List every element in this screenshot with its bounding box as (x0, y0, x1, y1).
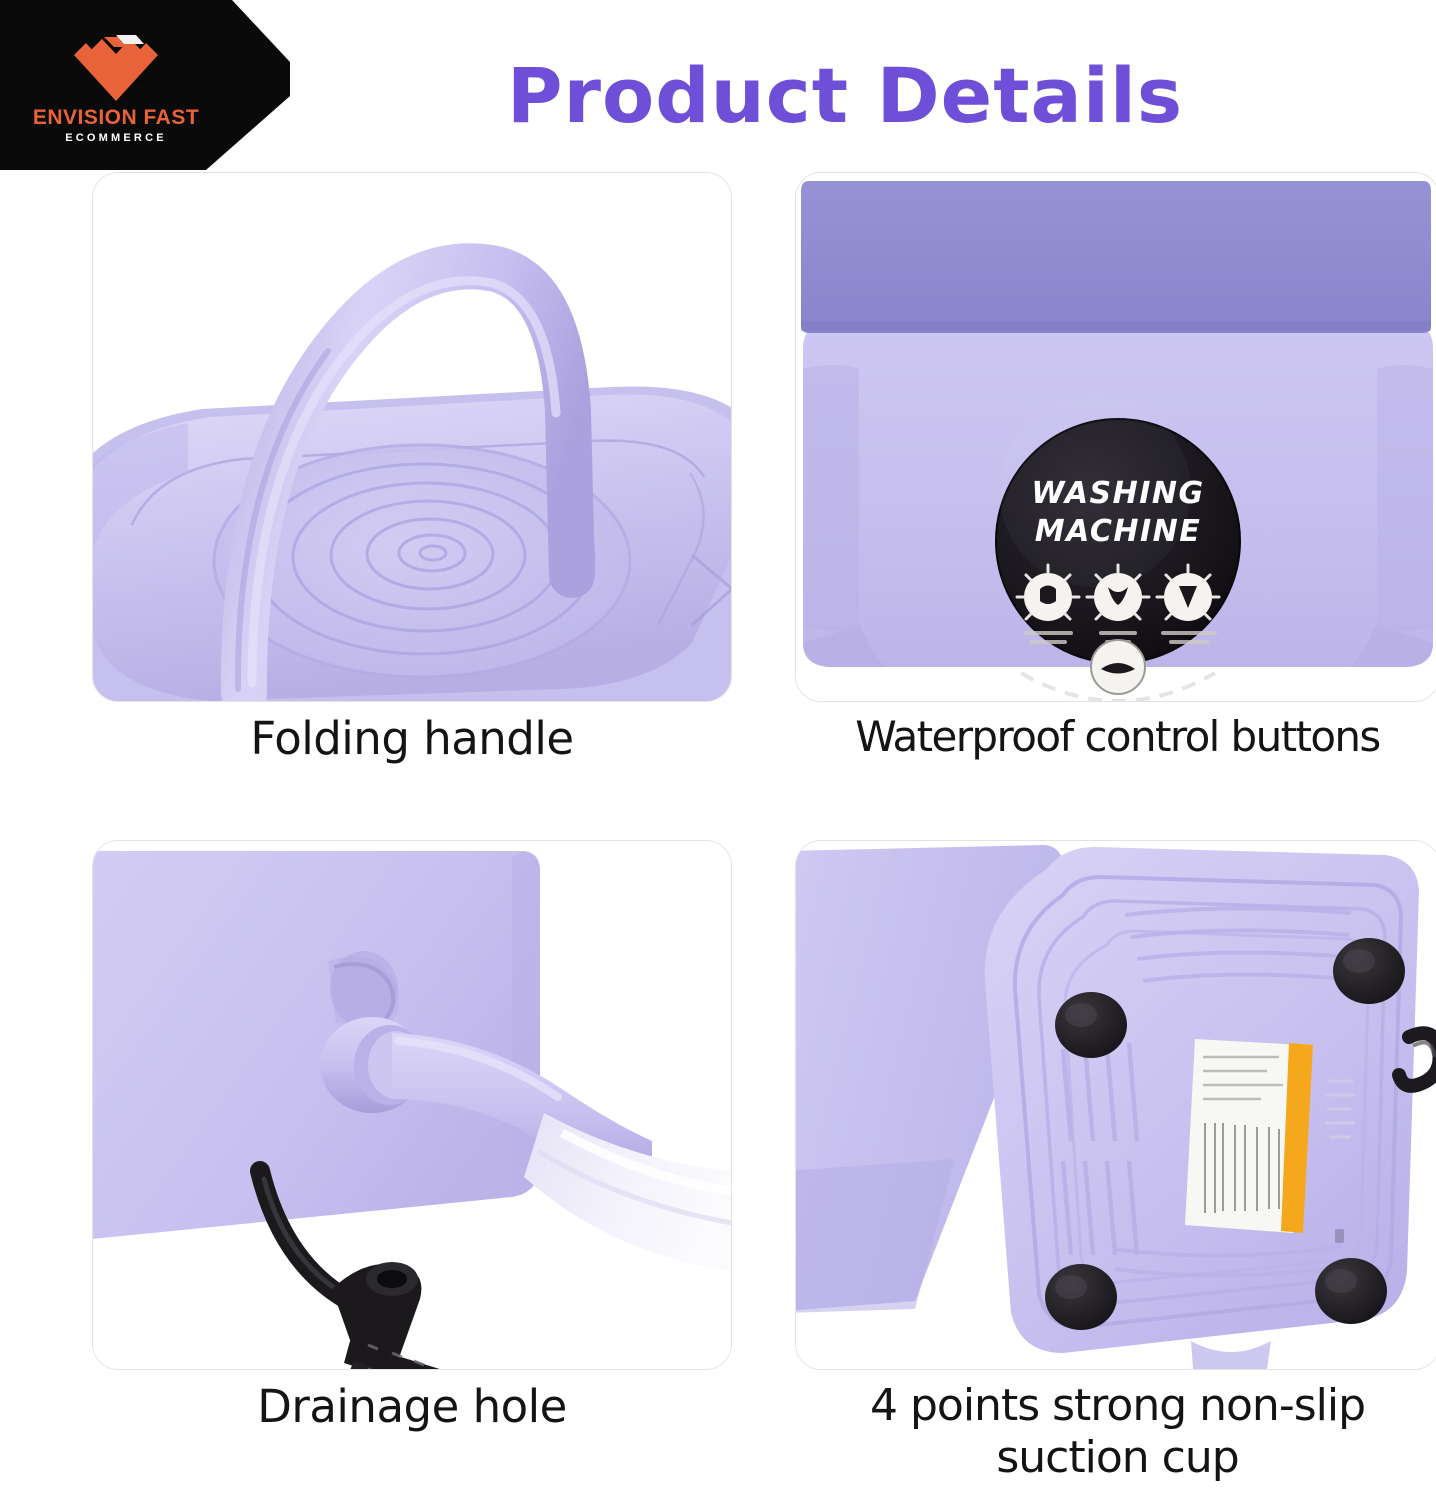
control-panel-title-line-1: WASHING (1031, 476, 1204, 511)
caption-drainage-hole: Drainage hole (52, 1380, 772, 1433)
suction-cup (1315, 1258, 1387, 1324)
brand-logo-banner: ENVISION FAST ECOMMERCE (0, 0, 290, 170)
drainage-hole-photo (92, 840, 732, 1370)
chevron-logo-icon (64, 27, 168, 105)
detail-cell-folding-handle: Folding handle (92, 172, 732, 772)
brand-name: ENVISION FAST (33, 107, 199, 128)
brand-tagline: ECOMMERCE (65, 133, 167, 144)
product-details-grid: Folding handle (0, 172, 1436, 1500)
caption-suction-cups-line-1: 4 points strong non-slip (870, 1380, 1365, 1431)
control-panel-title-line-2: MACHINE (1035, 514, 1202, 549)
control-buttons-photo: WASHING MACHINE (795, 172, 1436, 702)
suction-cup (1055, 992, 1127, 1058)
suction-cup (1333, 938, 1405, 1004)
folding-handle-photo (92, 172, 732, 702)
detail-cell-suction-cups: 4 points strong non-slip suction cup (795, 840, 1436, 1480)
caption-suction-cups-line-2: suction cup (996, 1432, 1238, 1483)
caption-control-buttons: Waterproof control buttons (755, 712, 1436, 762)
suction-cup (1045, 1264, 1117, 1330)
caption-suction-cups: 4 points strong non-slip suction cup (755, 1380, 1436, 1484)
detail-cell-control-buttons: WASHING MACHINE (795, 172, 1436, 772)
page-header: ENVISION FAST ECOMMERCE Product Details (0, 0, 1436, 172)
suction-cups-photo (795, 840, 1436, 1370)
product-rating-label (1185, 1039, 1313, 1233)
caption-folding-handle: Folding handle (52, 712, 772, 765)
detail-cell-drainage-hole: Drainage hole (92, 840, 732, 1480)
page-title: Product Details (290, 40, 1400, 150)
